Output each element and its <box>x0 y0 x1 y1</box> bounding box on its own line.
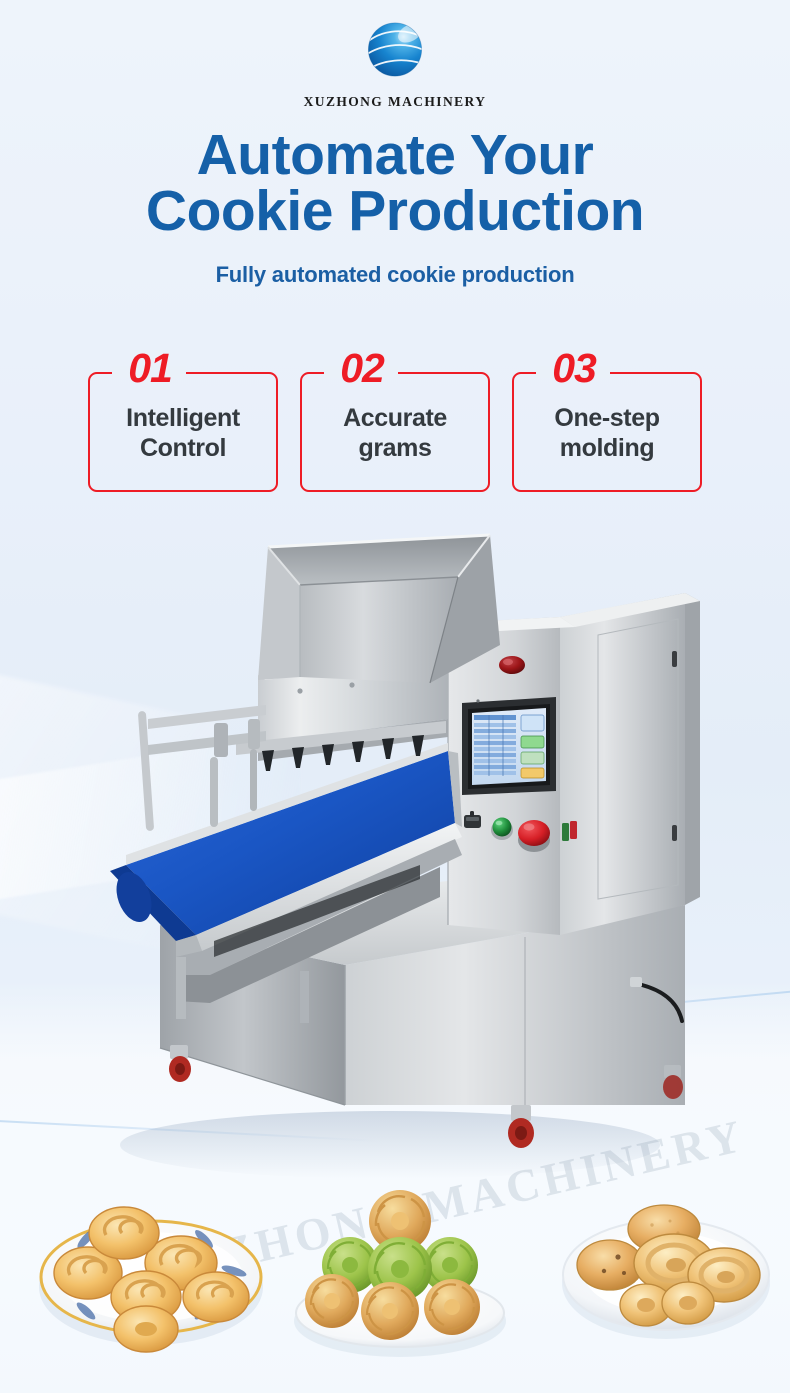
feature-item-02: 02 Accurate grams <box>300 352 490 492</box>
product-image: XUZHONG MACHINERY <box>0 505 790 1205</box>
feature-label-line-1: One-step <box>554 404 659 432</box>
feature-label-line-2: molding <box>560 434 654 462</box>
feature-label-line-2: grams <box>358 434 431 462</box>
hmi-touchscreen[interactable] <box>462 697 556 795</box>
headline-line-2: Cookie Production <box>0 184 790 240</box>
headline-line-1: Automate Your <box>197 123 594 187</box>
guide-rail-assembly <box>138 705 266 831</box>
feature-item-03: 03 One-step molding <box>512 352 702 492</box>
feature-item-01: 01 Intelligent Control <box>88 352 278 492</box>
emergency-stop-button[interactable] <box>518 820 550 852</box>
stainless-steel-hopper <box>258 535 500 683</box>
red-indicator-light <box>499 656 525 674</box>
door-hinge-top <box>672 651 677 667</box>
globe-sphere-icon <box>358 14 432 88</box>
cable-gland <box>630 977 642 987</box>
brand-logo: XUZHONG MACHINERY <box>0 0 790 110</box>
feature-label-line-2: Control <box>140 434 226 462</box>
swirl-butter-cookies-plate <box>26 1177 276 1357</box>
product-banner: XUZHONG MACHINERY Automate Your Cookie P… <box>0 0 790 1393</box>
page-title: Automate Your Cookie Production <box>0 128 790 240</box>
control-panel <box>448 617 577 935</box>
feature-list: 01 Intelligent Control 02 Accurate grams… <box>0 352 790 492</box>
ring-butter-cookies-plate <box>556 1181 776 1351</box>
feature-label: Accurate grams <box>300 404 490 463</box>
page-subtitle: Fully automated cookie production <box>0 262 790 288</box>
feature-label-line-1: Accurate <box>343 404 447 432</box>
feature-label: Intelligent Control <box>88 404 278 463</box>
cookie-group <box>305 1190 480 1340</box>
matcha-rosette-cookies-plate <box>288 1173 512 1363</box>
feature-number: 01 <box>110 348 190 389</box>
feature-number: 02 <box>322 348 402 389</box>
feature-label: One-step molding <box>512 404 702 463</box>
feature-number: 03 <box>534 348 614 389</box>
cookie-forming-machine <box>0 505 790 1205</box>
banner-header: XUZHONG MACHINERY Automate Your Cookie P… <box>0 0 790 288</box>
brand-name: XUZHONG MACHINERY <box>304 94 487 110</box>
feature-label-line-1: Intelligent <box>126 404 240 432</box>
door-hinge-bottom <box>672 825 677 841</box>
control-cabinet-column <box>560 593 700 935</box>
cookie-gallery <box>0 1155 790 1393</box>
